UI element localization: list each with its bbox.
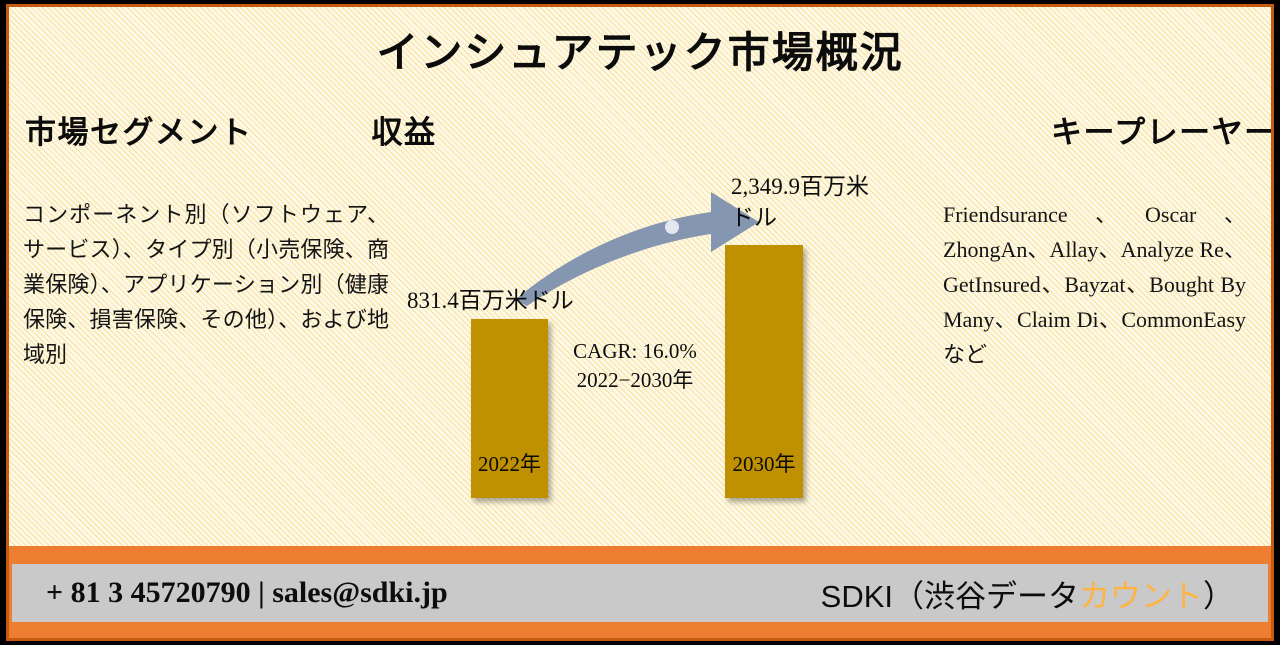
footer-brand: SDKI（渋谷データカウント） [821, 571, 1234, 616]
footer-bar: + 81 3 45720790 | sales@sdki.jp SDKI（渋谷デ… [12, 564, 1268, 622]
brand-accent: カウント [1079, 579, 1203, 614]
footer-contact-info[interactable]: + 81 3 45720790 | sales@sdki.jp [46, 576, 448, 610]
bar-value-2030: 2,349.9百万米ドル [731, 171, 876, 233]
brand-suffix: ） [1203, 579, 1234, 614]
column-header-key-players: キープレーヤー [9, 107, 1271, 152]
bar-2022: 2022年 [471, 319, 548, 498]
bar-category-label-2022: 2022年 [471, 448, 548, 478]
key-players-description: Friendsurance、Oscar、ZhongAn、Allay、Analyz… [943, 197, 1246, 372]
bar-2030: 2030年 [725, 245, 803, 498]
cagr-period-label: 2022−2030年 [555, 366, 715, 395]
page-title: インシュアテック市場概況 [9, 19, 1271, 80]
market-segment-description: コンポーネント別（ソフトウェア、サービス）、タイプ別（小売保険、商業保険）、アプ… [23, 197, 389, 372]
cagr-annotation: CAGR: 16.0% 2022−2030年 [555, 337, 715, 395]
column-header-key-players-label: キープレーヤー [1051, 115, 1271, 150]
cagr-label: CAGR: 16.0% [555, 337, 715, 366]
revenue-bar-chart: 831.4百万米ドル 2,349.9百万米ドル CAGR: 16.0% 2022… [409, 157, 909, 517]
brand-prefix: SDKI（渋谷データ [821, 579, 1079, 614]
slide-root: インシュアテック市場概況 市場セグメント 収益 キープレーヤー コンポーネント別… [0, 0, 1280, 645]
bar-value-2022: 831.4百万米ドル [407, 285, 617, 316]
footer-band: + 81 3 45720790 | sales@sdki.jp SDKI（渋谷デ… [6, 546, 1274, 641]
slide-canvas: インシュアテック市場概況 市場セグメント 収益 キープレーヤー コンポーネント別… [9, 7, 1271, 546]
bar-category-label-2030: 2030年 [725, 448, 803, 478]
